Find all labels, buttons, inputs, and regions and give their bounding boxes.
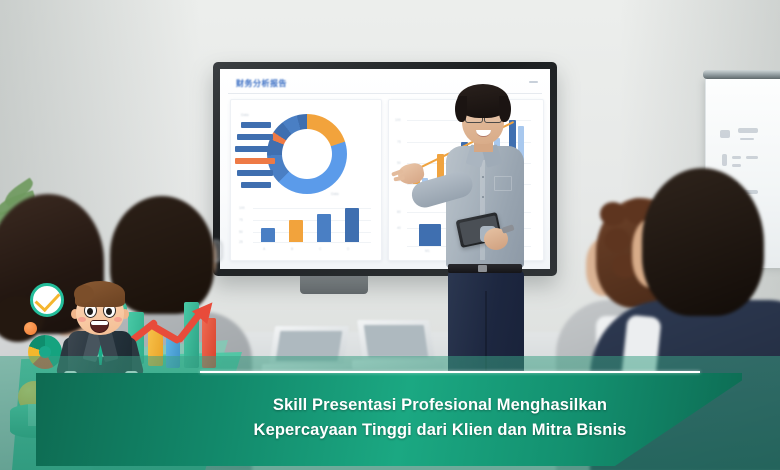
banner-title-block: Skill Presentasi Profesional Menghasilka…: [200, 378, 680, 458]
banner-title-line-1: Skill Presentasi Profesional Menghasilka…: [273, 395, 607, 416]
presenter-shirt-placket: [480, 160, 485, 260]
donut-leader-2: [237, 134, 273, 140]
banner-top-rule: [200, 371, 700, 373]
flipchart-rail: [703, 70, 780, 79]
presenter-shirt: [446, 146, 524, 268]
screenshot-stage: 财务分析报告 Data Data: [0, 0, 780, 470]
donut-label-right: Data: [331, 192, 339, 196]
donut-leader-6: [241, 182, 271, 188]
donut-hole: [282, 129, 332, 179]
presenter-shirt-pocket: [494, 176, 512, 191]
donut-leader-3: [235, 146, 275, 152]
deco-sphere-orange-small: [24, 322, 37, 335]
donut-leader-5: [237, 170, 273, 176]
presenter-person: [424, 76, 542, 376]
donut-label-left: Data: [241, 113, 249, 117]
display-stand: [300, 276, 368, 294]
banner-title-line-2: Kepercayaan Tinggi dari Klien dan Mitra …: [254, 420, 627, 441]
mini-bar-chart: 100 75 50 25 A B C D: [231, 200, 381, 260]
donut-leader-4: [235, 158, 275, 164]
presenter-belt-buckle: [478, 265, 487, 272]
slide-title: 财务分析报告: [236, 78, 287, 89]
donut-leader-1: [241, 122, 271, 128]
slide-card-left: Data Data 100 75 50 25 A: [230, 99, 382, 261]
